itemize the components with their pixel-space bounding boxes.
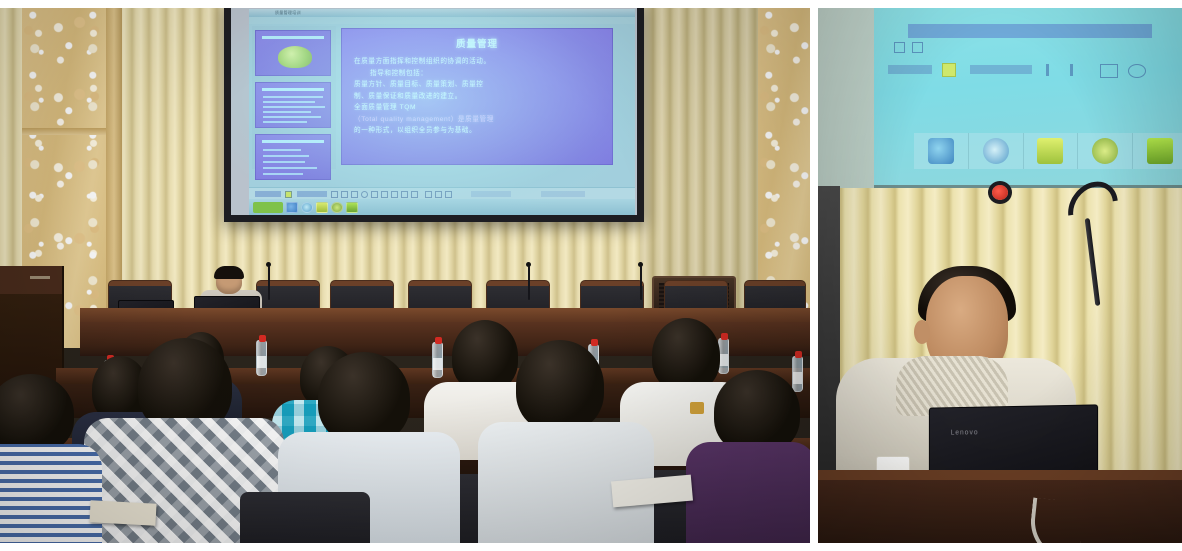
- ppt-work-area: 质量管理 在质量方面指挥和控制组织的协调的活动。 指导和控制包括： 质量方针、质…: [249, 24, 635, 187]
- head-table-top: [80, 308, 810, 322]
- media-icon[interactable]: [928, 138, 954, 164]
- audience-torso: [0, 444, 102, 543]
- slide-thumbnail[interactable]: [255, 82, 331, 128]
- autoshapes-menu-label[interactable]: [970, 65, 1032, 74]
- audience-hair: [516, 340, 604, 432]
- green-app-icon[interactable]: [346, 202, 358, 213]
- media-player-icon[interactable]: [331, 202, 343, 213]
- thumbnail-artwork-icon: [278, 46, 312, 68]
- gooseneck-microphone: [268, 266, 270, 300]
- slide-body-line: 全面质量管理 TQM: [354, 102, 600, 114]
- arrow-tool-icon[interactable]: [1070, 64, 1073, 76]
- taskbar-cell[interactable]: [1078, 133, 1133, 169]
- object-handle-icon: [912, 42, 923, 53]
- taskbar-cell[interactable]: [969, 133, 1024, 169]
- arrow-tool-icon[interactable]: [341, 191, 348, 198]
- rectangle-tool-icon[interactable]: [1100, 64, 1118, 78]
- media-player-icon[interactable]: [1092, 138, 1118, 164]
- gooseneck-microphone: [640, 266, 642, 300]
- projection-screen: 质量管理培训: [224, 8, 644, 222]
- folder-icon[interactable]: [316, 202, 328, 213]
- head-table-chair: [330, 280, 394, 310]
- head-table-chair: [744, 280, 806, 310]
- diagram-tool-icon[interactable]: [391, 191, 398, 198]
- audience-hair: [652, 318, 720, 392]
- ellipse-tool-icon[interactable]: [361, 191, 368, 198]
- head-table-chair: [580, 280, 644, 310]
- object-handle-icon: [894, 42, 905, 53]
- font-color-icon[interactable]: [445, 191, 452, 198]
- head-table-chair: [256, 280, 320, 310]
- power-cable: [1027, 497, 1085, 543]
- clipart-tool-icon[interactable]: [401, 191, 408, 198]
- water-bottle: [792, 356, 803, 392]
- draw-menu-label[interactable]: [255, 191, 281, 197]
- thumbnail-text-line: [263, 149, 301, 151]
- slide-body-line: 的一种形式，以组织全员参与为基础。: [354, 125, 600, 137]
- head-table-chair: [486, 280, 550, 310]
- water-bottle: [432, 342, 443, 378]
- textbox-tool-icon[interactable]: [371, 191, 378, 198]
- picture-tool-icon[interactable]: [411, 191, 418, 198]
- start-button[interactable]: [253, 202, 283, 213]
- podium-handle: [30, 276, 50, 279]
- slide-body-line-english: （Total quality management）是质量管理: [354, 114, 600, 126]
- thumbnail-text-line: [263, 161, 305, 163]
- thumbnail-title-bar: [262, 36, 324, 39]
- audience-torso: [686, 442, 810, 543]
- autoshapes-menu-label[interactable]: [297, 191, 327, 197]
- slide-thumbnail[interactable]: [255, 30, 331, 76]
- audience-hair: [318, 352, 410, 444]
- internet-explorer-icon[interactable]: [301, 202, 313, 213]
- gooseneck-microphone: [528, 266, 530, 300]
- slide-body-line: 质量方针、质量目标、质量策划、质量控: [354, 79, 600, 91]
- thumbnail-text-line: [263, 106, 325, 108]
- line-tool-icon[interactable]: [331, 191, 338, 198]
- internet-explorer-icon[interactable]: [983, 138, 1009, 164]
- thumbnail-text-line: [263, 96, 323, 98]
- drawing-toolbar-row[interactable]: [251, 189, 633, 199]
- slide-body-line: 在质量方面指挥和控制组织的协调的活动。: [354, 56, 600, 68]
- fill-color-icon[interactable]: [425, 191, 432, 198]
- draw-menu-label[interactable]: [888, 65, 932, 74]
- projection-screen-closeup: [874, 8, 1182, 188]
- audience-chair: [240, 492, 370, 543]
- taskbar-cell[interactable]: [1024, 133, 1079, 169]
- status-theme-name: [541, 191, 585, 197]
- presenter-desk: [818, 470, 1182, 543]
- active-slide[interactable]: 质量管理 在质量方面指挥和控制组织的协调的活动。 指导和控制包括： 质量方针、质…: [341, 28, 613, 165]
- windows-taskbar[interactable]: [249, 199, 635, 215]
- thumbnail-text-line: [263, 173, 303, 175]
- wall-surface: [818, 8, 876, 208]
- line-tool-icon[interactable]: [1046, 64, 1049, 76]
- green-app-icon[interactable]: [1147, 138, 1173, 164]
- slide-body-line: 指导和控制包括：: [354, 68, 600, 80]
- shirt-logo: [690, 402, 704, 414]
- thumbnail-title-bar: [262, 140, 324, 143]
- thumbnail-text-line: [263, 116, 321, 118]
- pillar-seam: [22, 128, 106, 135]
- slide-thumbnail[interactable]: [255, 134, 331, 180]
- slide-thumbnail-pane[interactable]: [252, 26, 336, 169]
- thumbnail-text-line: [263, 101, 315, 103]
- windows-taskbar[interactable]: [914, 133, 1182, 169]
- speaker-ear: [914, 320, 930, 344]
- autoshape-icon[interactable]: [942, 63, 956, 77]
- ppt-title-text: 质量管理培训: [249, 9, 635, 17]
- slide-body-line: 制、质量保证和质量改进的建立。: [354, 91, 600, 103]
- photo-panel-speaker-closeup: Lenovo: [818, 8, 1182, 543]
- media-icon[interactable]: [286, 202, 298, 213]
- laptop-brand-label: Lenovo: [951, 429, 979, 436]
- water-bottle: [256, 340, 267, 376]
- powerpoint-window: 质量管理培训: [249, 9, 635, 215]
- presenter-hair: [214, 266, 244, 279]
- line-color-icon[interactable]: [435, 191, 442, 198]
- thumbnail-text-line: [263, 167, 317, 169]
- ellipse-tool-icon[interactable]: [1128, 64, 1146, 78]
- thumbnail-title-bar: [262, 88, 324, 91]
- autoshape-icon[interactable]: [285, 191, 292, 198]
- handout-papers: [89, 500, 156, 525]
- microphone-windscreen-icon: [992, 185, 1008, 200]
- composite-image: 质量管理培训: [0, 0, 1182, 551]
- rectangle-tool-icon[interactable]: [351, 191, 358, 198]
- wordart-tool-icon[interactable]: [381, 191, 388, 198]
- taskbar-cell[interactable]: [1133, 133, 1182, 169]
- taskbar-cell[interactable]: [914, 133, 969, 169]
- thumbnail-text-line: [263, 121, 307, 123]
- head-table-chair: [664, 280, 728, 310]
- ppt-selected-textbox: [908, 24, 1152, 38]
- slide-title: 质量管理: [354, 36, 600, 50]
- photo-panel-lecture-hall: 质量管理培训: [0, 8, 810, 543]
- ppt-menu-bar[interactable]: [249, 17, 635, 24]
- folder-icon[interactable]: [1037, 138, 1063, 164]
- ppt-drawing-toolbar[interactable]: [249, 187, 635, 199]
- ppt-title-bar: 质量管理培训: [249, 9, 635, 17]
- thumbnail-text-line: [263, 111, 311, 113]
- drawing-toolbar-row[interactable]: [888, 60, 1182, 80]
- head-table-chair: [408, 280, 472, 310]
- thumbnail-text-line: [263, 155, 309, 157]
- status-slide-counter: [471, 191, 511, 197]
